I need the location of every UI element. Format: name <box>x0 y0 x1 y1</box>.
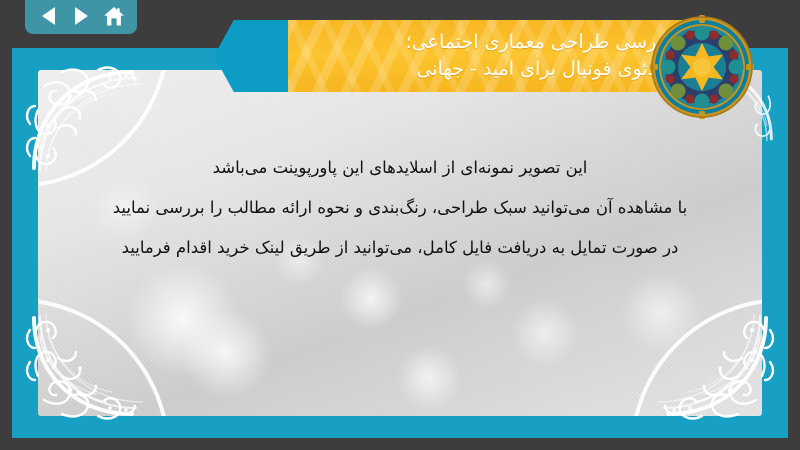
banner-title-line-2: ویدئوی فوتبال برای امید - جهانی <box>417 56 672 83</box>
slide-content-panel: این تصویر نمونه‌ای از اسلایدهای این پاور… <box>38 70 762 416</box>
title-banner: بررسی طراحی معماری اجتماعی؛ ویدئوی فوتبا… <box>214 20 714 92</box>
body-text-line-1: این تصویر نمونه‌ای از اسلایدهای این پاور… <box>38 148 762 188</box>
home-icon <box>103 6 125 27</box>
body-text-line-3: در صورت تمایل به دریافت فایل کامل، می‌تو… <box>38 228 762 268</box>
previous-slide-button[interactable] <box>35 3 61 29</box>
triangle-left-icon <box>42 7 55 25</box>
body-text-line-2: با مشاهده آن می‌توانید سبک طراحی، رنگ‌بن… <box>38 188 762 228</box>
decorative-arc-bottom-left <box>38 298 170 416</box>
body-text-block: این تصویر نمونه‌ای از اسلایدهای این پاور… <box>38 148 762 268</box>
slide-canvas: بررسی طراحی معماری اجتماعی؛ ویدئوی فوتبا… <box>0 0 800 450</box>
triangle-right-icon <box>75 7 88 25</box>
next-slide-button[interactable] <box>68 3 94 29</box>
navigation-bar <box>25 0 137 34</box>
mandala-ornament-icon <box>650 15 754 119</box>
home-button[interactable] <box>101 3 127 29</box>
banner-title-line-1: بررسی طراحی معماری اجتماعی؛ <box>406 29 672 56</box>
decorative-arc-bottom-right <box>630 298 762 416</box>
